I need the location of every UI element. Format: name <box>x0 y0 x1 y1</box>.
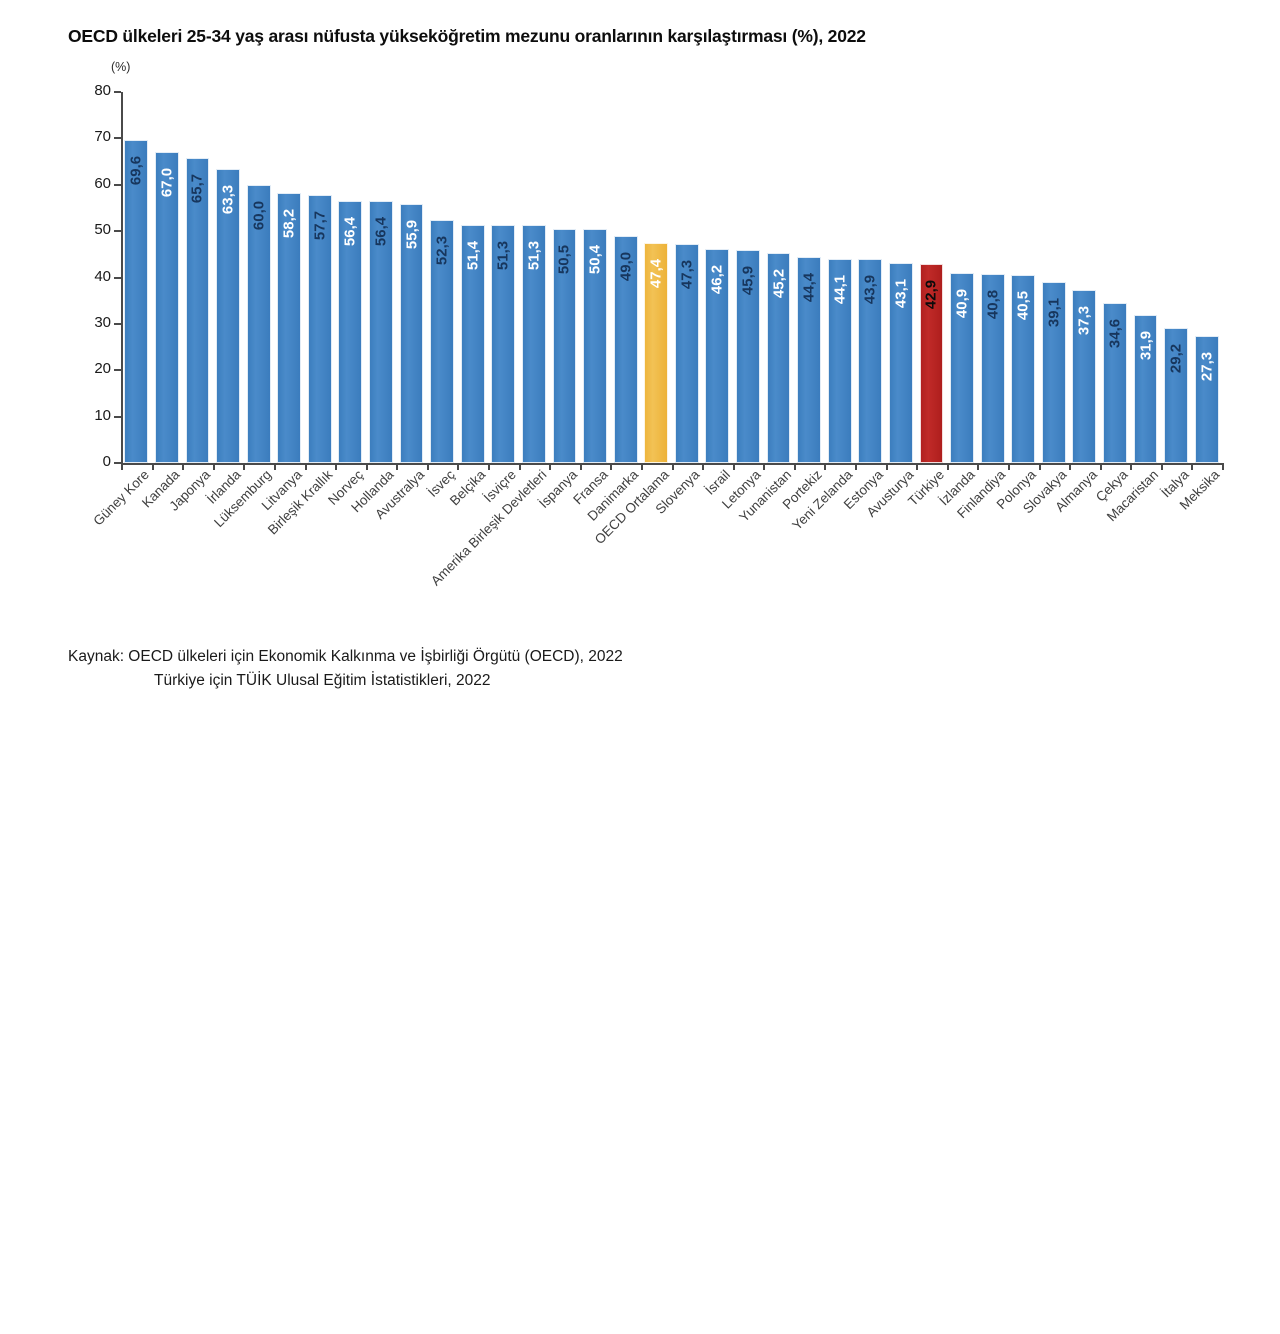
bar[interactable]: 40,8 <box>981 274 1005 463</box>
bar[interactable]: 56,4 <box>338 201 362 463</box>
bar-slot: 45,2 <box>763 92 794 463</box>
bar-slot: 52,3 <box>427 92 458 463</box>
bar-slot: 60,0 <box>243 92 274 463</box>
bar-value-label: 50,5 <box>557 245 572 274</box>
bar-slot: 57,7 <box>305 92 336 463</box>
bars-layer: 69,667,065,763,360,058,257,756,456,455,9… <box>121 92 1222 463</box>
bar-value-label: 52,3 <box>435 236 450 265</box>
source-line-secondary: Türkiye için TÜİK Ulusal Eğitim İstatist… <box>68 669 623 693</box>
y-axis-tick-label: 70 <box>94 128 111 145</box>
y-axis-tick-mark <box>114 462 121 464</box>
bar[interactable]: 43,9 <box>858 259 882 463</box>
bar[interactable]: 57,7 <box>308 195 332 463</box>
y-axis-unit-label: (%) <box>111 60 130 74</box>
bar[interactable]: 51,3 <box>522 225 546 463</box>
bar-value-label: 63,3 <box>221 185 236 214</box>
y-axis-tick-label: 60 <box>94 175 111 192</box>
bar-slot: 42,9 <box>916 92 947 463</box>
bar[interactable]: 65,7 <box>186 158 210 463</box>
bar[interactable]: 37,3 <box>1072 290 1096 463</box>
bar-value-label: 43,1 <box>893 279 908 308</box>
bar-value-label: 51,4 <box>465 241 480 270</box>
bar[interactable]: 42,9 <box>920 264 944 463</box>
bar[interactable]: 69,6 <box>124 140 148 463</box>
bar-value-label: 29,2 <box>1169 343 1184 372</box>
bar-value-label: 55,9 <box>404 220 419 249</box>
bar-slot: 58,2 <box>274 92 305 463</box>
bar-slot: 31,9 <box>1130 92 1161 463</box>
bar[interactable]: 27,3 <box>1195 336 1219 463</box>
bar-slot: 46,2 <box>702 92 733 463</box>
bar-slot: 43,9 <box>855 92 886 463</box>
bar-value-label: 47,4 <box>649 259 664 288</box>
bar-slot: 56,4 <box>335 92 366 463</box>
bar-value-label: 40,5 <box>1016 291 1031 320</box>
bar-slot: 44,4 <box>794 92 825 463</box>
bar-value-label: 45,2 <box>771 269 786 298</box>
bar-value-label: 37,3 <box>1077 306 1092 335</box>
bar-slot: 51,3 <box>519 92 550 463</box>
bar-slot: 40,9 <box>947 92 978 463</box>
bar-value-label: 47,3 <box>679 260 694 289</box>
y-axis-tick-mark <box>114 137 121 139</box>
bar-slot: 65,7 <box>182 92 213 463</box>
bar-slot: 51,4 <box>457 92 488 463</box>
bar-value-label: 39,1 <box>1046 298 1061 327</box>
bar[interactable]: 47,4 <box>644 243 668 463</box>
bar-slot: 43,1 <box>886 92 917 463</box>
bar-value-label: 45,9 <box>740 266 755 295</box>
source-line-primary: Kaynak: OECD ülkeleri için Ekonomik Kalk… <box>68 645 623 669</box>
bar[interactable]: 51,4 <box>461 225 485 463</box>
bar-value-label: 60,0 <box>251 201 266 230</box>
bar[interactable]: 39,1 <box>1042 282 1066 463</box>
bar-value-label: 51,3 <box>526 241 541 270</box>
bar[interactable]: 50,4 <box>583 229 607 463</box>
bar-value-label: 46,2 <box>710 265 725 294</box>
bar[interactable]: 58,2 <box>277 193 301 463</box>
bar[interactable]: 51,3 <box>491 225 515 463</box>
source-note: Kaynak: OECD ülkeleri için Ekonomik Kalk… <box>68 645 623 693</box>
y-axis-tick-label: 40 <box>94 268 111 285</box>
bar-slot: 40,5 <box>1008 92 1039 463</box>
bar[interactable]: 45,2 <box>767 253 791 463</box>
bar[interactable]: 44,4 <box>797 257 821 463</box>
bar-value-label: 58,2 <box>282 209 297 238</box>
bar-value-label: 40,8 <box>985 290 1000 319</box>
bar-value-label: 56,4 <box>343 217 358 246</box>
bar[interactable]: 67,0 <box>155 152 179 463</box>
bar-slot: 67,0 <box>152 92 183 463</box>
bar-value-label: 34,6 <box>1107 318 1122 347</box>
bar-slot: 55,9 <box>396 92 427 463</box>
bar-value-label: 44,4 <box>802 273 817 302</box>
bar-slot: 63,3 <box>213 92 244 463</box>
bar[interactable]: 50,5 <box>553 229 577 463</box>
bar[interactable]: 49,0 <box>614 236 638 463</box>
bar-slot: 50,4 <box>580 92 611 463</box>
y-axis-tick-label: 10 <box>94 407 111 424</box>
bar-value-label: 51,3 <box>496 241 511 270</box>
bar-slot: 37,3 <box>1069 92 1100 463</box>
bar[interactable]: 40,9 <box>950 273 974 463</box>
category-labels: Güney KoreKanadaJaponyaİrlandaLüksemburg… <box>0 467 1280 657</box>
bar-slot: 44,1 <box>824 92 855 463</box>
bar[interactable]: 63,3 <box>216 169 240 463</box>
bar[interactable]: 52,3 <box>430 220 454 463</box>
bar-slot: 56,4 <box>366 92 397 463</box>
bar-value-label: 40,9 <box>955 289 970 318</box>
bar-slot: 49,0 <box>610 92 641 463</box>
bar[interactable]: 60,0 <box>247 185 271 463</box>
y-axis-tick-mark <box>114 323 121 325</box>
y-axis-tick-label: 30 <box>94 314 111 331</box>
page-title: OECD ülkeleri 25-34 yaş arası nüfusta yü… <box>68 26 1218 47</box>
y-axis-tick-mark <box>114 184 121 186</box>
y-axis-tick-label: 50 <box>94 221 111 238</box>
bar-slot: 27,3 <box>1191 92 1222 463</box>
bar-value-label: 27,3 <box>1199 352 1214 381</box>
bar-value-label: 57,7 <box>312 211 327 240</box>
bar[interactable]: 46,2 <box>705 249 729 463</box>
y-axis-tick-mark <box>114 369 121 371</box>
bar[interactable]: 43,1 <box>889 263 913 463</box>
bar-slot: 47,3 <box>672 92 703 463</box>
bar[interactable]: 31,9 <box>1134 315 1158 463</box>
y-axis-tick-mark <box>114 416 121 418</box>
bar-value-label: 42,9 <box>924 280 939 309</box>
bar-value-label: 69,6 <box>129 156 144 185</box>
bar-slot: 47,4 <box>641 92 672 463</box>
bar[interactable]: 44,1 <box>828 259 852 464</box>
y-axis-tick-mark <box>114 91 121 93</box>
bar[interactable]: 55,9 <box>400 204 424 463</box>
bar-slot: 39,1 <box>1039 92 1070 463</box>
bar-value-label: 65,7 <box>190 174 205 203</box>
bar-slot: 29,2 <box>1161 92 1192 463</box>
bar-value-label: 44,1 <box>832 274 847 303</box>
bar-slot: 50,5 <box>549 92 580 463</box>
y-axis-tick-label: 20 <box>94 360 111 377</box>
bar[interactable]: 47,3 <box>675 244 699 463</box>
plot-area: 01020304050607080 69,667,065,763,360,058… <box>121 92 1222 463</box>
bar-value-label: 43,9 <box>863 275 878 304</box>
bar-slot: 45,9 <box>733 92 764 463</box>
bar-slot: 40,8 <box>977 92 1008 463</box>
bar-value-label: 67,0 <box>159 168 174 197</box>
bar-slot: 34,6 <box>1100 92 1131 463</box>
bar[interactable]: 29,2 <box>1164 328 1188 463</box>
bar-value-label: 56,4 <box>373 217 388 246</box>
bar-value-label: 50,4 <box>588 245 603 274</box>
bar[interactable]: 34,6 <box>1103 303 1127 463</box>
y-axis-tick-label: 80 <box>94 82 111 99</box>
y-axis-tick-mark <box>114 277 121 279</box>
bar-value-label: 31,9 <box>1138 331 1153 360</box>
y-axis-tick-mark <box>114 230 121 232</box>
bar-slot: 69,6 <box>121 92 152 463</box>
bar[interactable]: 40,5 <box>1011 275 1035 463</box>
bar[interactable]: 45,9 <box>736 250 760 463</box>
bar[interactable]: 56,4 <box>369 201 393 463</box>
bar-value-label: 49,0 <box>618 252 633 281</box>
bar-slot: 51,3 <box>488 92 519 463</box>
